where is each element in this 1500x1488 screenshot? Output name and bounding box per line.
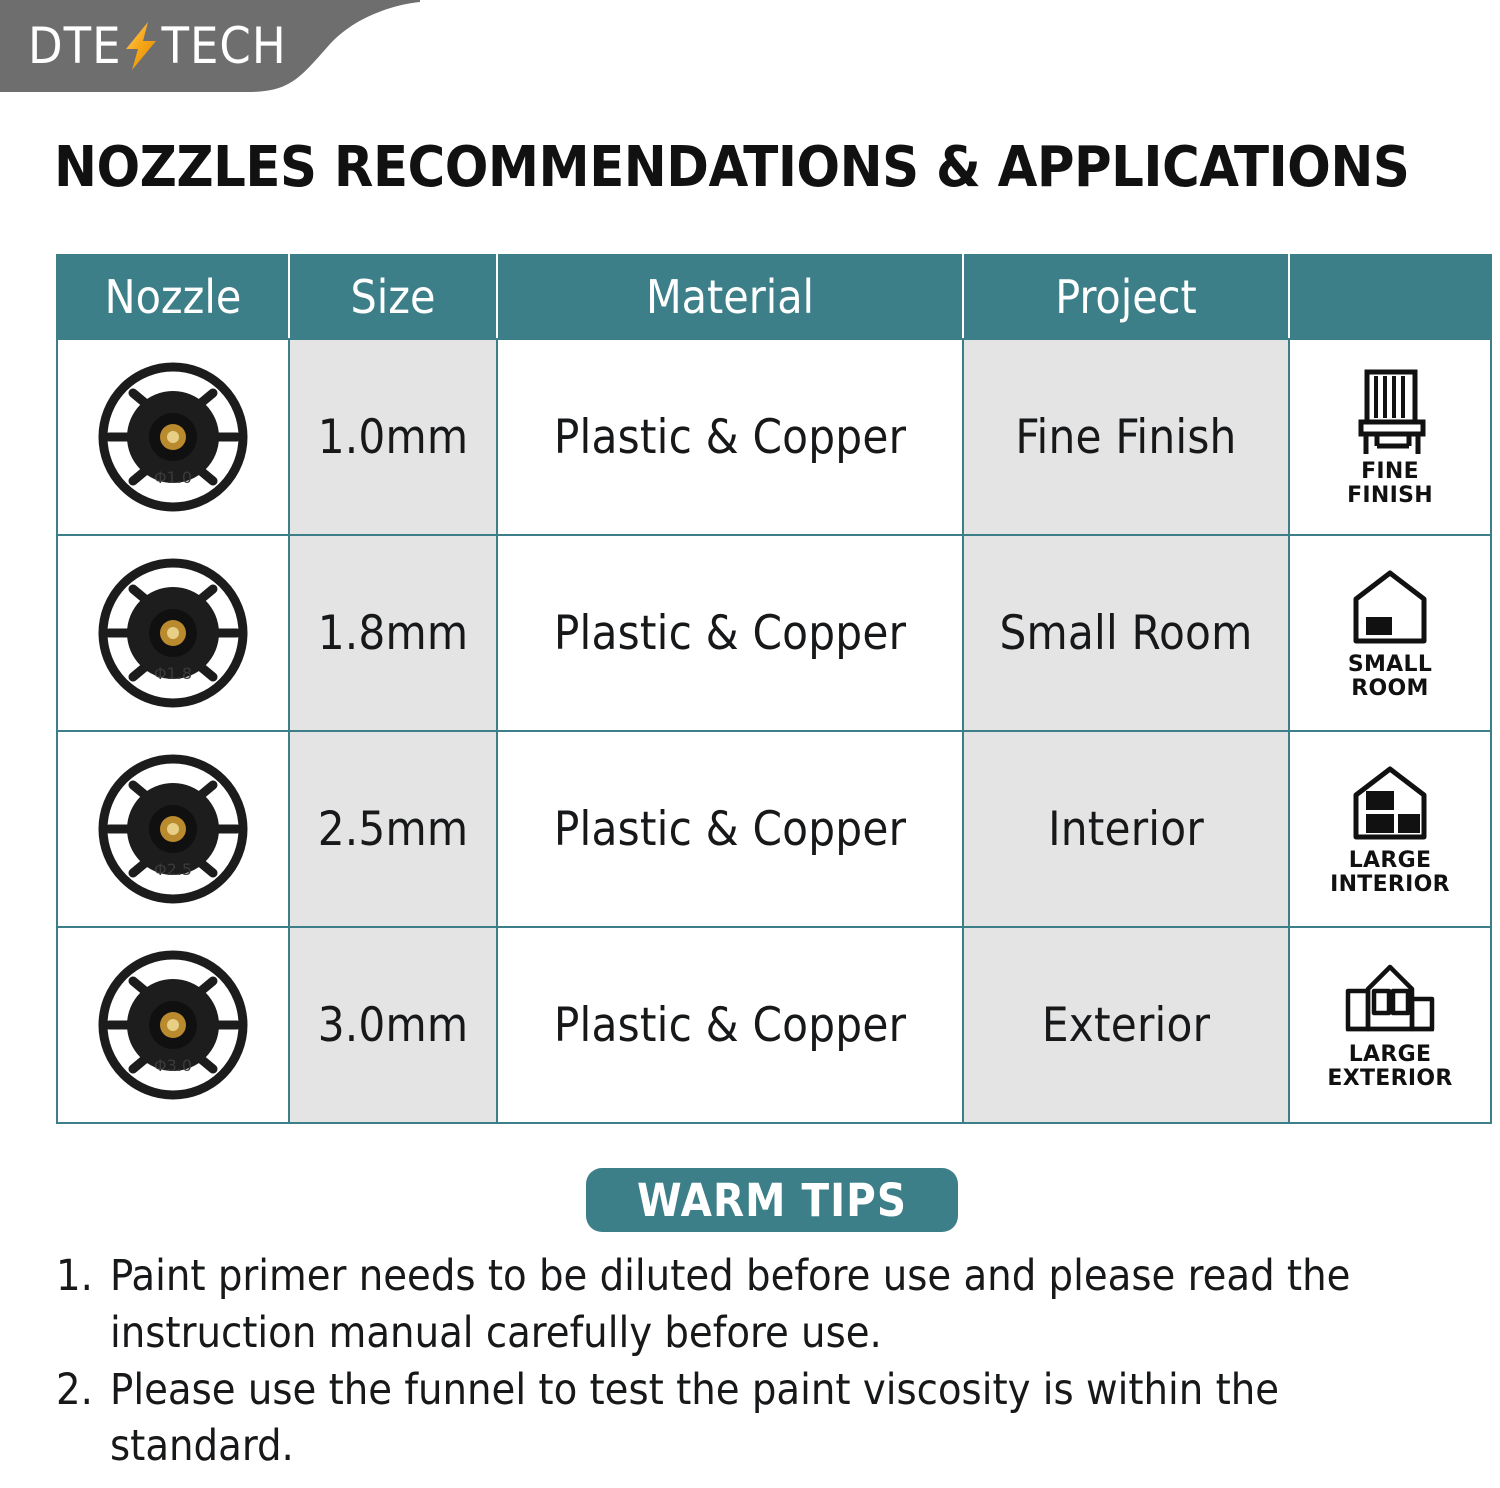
application-caption-line2: ROOM (1351, 676, 1428, 701)
column-header-application (1289, 255, 1491, 339)
warm-tips-badge: WARM TIPS (586, 1168, 958, 1232)
brand-name-right: TECH (162, 17, 287, 75)
size-value: 1.8mm (318, 606, 469, 661)
application-cell: LARGE INTERIOR (1289, 731, 1491, 927)
project-value: Interior (1048, 802, 1204, 857)
project-value: Exterior (1042, 998, 1210, 1053)
material-value: Plastic & Copper (554, 998, 906, 1053)
column-header-project: Project (963, 255, 1289, 339)
material-cell: Plastic & Copper (497, 339, 963, 535)
nozzle-image-cell: Φ1.8 (57, 535, 289, 731)
size-value: 1.0mm (318, 410, 469, 465)
size-cell: 1.8mm (289, 535, 497, 731)
brand-logo: DTE TECH (0, 0, 420, 92)
size-value: 2.5mm (318, 802, 469, 857)
column-header-size: Size (289, 255, 497, 339)
tip-number: 2. (56, 1362, 110, 1476)
warm-tips-list: 1. Paint primer needs to be diluted befo… (56, 1248, 1456, 1475)
spray-nozzle-icon: Φ1.0 (85, 351, 261, 523)
project-value: Fine Finish (1015, 410, 1236, 465)
list-item: 2. Please use the funnel to test the pai… (56, 1362, 1456, 1476)
application-caption-line2: FINISH (1347, 483, 1433, 508)
warm-tips-label: WARM TIPS (637, 1174, 907, 1227)
house-exterior-icon (1338, 959, 1442, 1041)
nozzle-image-cell: Φ2.5 (57, 731, 289, 927)
page-title: NOZZLES RECOMMENDATIONS & APPLICATIONS (54, 135, 1482, 200)
application-cell: FINE FINISH (1289, 339, 1491, 535)
table-row: Φ2.5 2.5mm Plastic & Copper Interior (57, 731, 1491, 927)
application-caption-line1: LARGE (1349, 1042, 1432, 1067)
nozzle-marking-label: Φ1.8 (154, 664, 192, 683)
material-cell: Plastic & Copper (497, 731, 963, 927)
tip-text: Paint primer needs to be diluted before … (110, 1248, 1456, 1362)
chair-icon (1347, 366, 1433, 458)
nozzle-marking-label: Φ1.0 (154, 468, 192, 487)
application-caption-line1: LARGE (1349, 848, 1432, 873)
spray-nozzle-icon: Φ3.0 (85, 939, 261, 1111)
project-value: Small Room (999, 606, 1252, 661)
spray-nozzle-icon: Φ1.8 (85, 547, 261, 719)
nozzle-marking-label: Φ2.5 (154, 860, 192, 879)
infographic-page: DTE TECH NOZZLES RECOMMENDATIONS & APPLI… (0, 0, 1500, 1488)
size-cell: 3.0mm (289, 927, 497, 1123)
table-row: Φ1.0 1.0mm Plastic & Copper Fine Finish (57, 339, 1491, 535)
application-caption-line1: FINE (1361, 459, 1419, 484)
table-header-row: Nozzle Size Material Project (57, 255, 1491, 339)
project-cell: Fine Finish (963, 339, 1289, 535)
application-caption-line2: EXTERIOR (1327, 1066, 1452, 1091)
application-cell: LARGE EXTERIOR (1289, 927, 1491, 1123)
application-caption-line2: INTERIOR (1330, 872, 1450, 897)
nozzle-image-cell: Φ3.0 (57, 927, 289, 1123)
material-value: Plastic & Copper (554, 606, 906, 661)
nozzle-image-cell: Φ1.0 (57, 339, 289, 535)
material-value: Plastic & Copper (554, 410, 906, 465)
column-header-nozzle: Nozzle (57, 255, 289, 339)
size-cell: 2.5mm (289, 731, 497, 927)
house-single-room-icon (1344, 565, 1436, 651)
nozzle-recommendation-table: Nozzle Size Material Project (56, 254, 1492, 1124)
size-value: 3.0mm (318, 998, 469, 1053)
material-cell: Plastic & Copper (497, 535, 963, 731)
project-cell: Interior (963, 731, 1289, 927)
table-row: Φ1.8 1.8mm Plastic & Copper Small Room S… (57, 535, 1491, 731)
project-cell: Exterior (963, 927, 1289, 1123)
spray-nozzle-icon: Φ2.5 (85, 743, 261, 915)
tip-number: 1. (56, 1248, 110, 1362)
house-multi-room-icon (1344, 761, 1436, 847)
material-value: Plastic & Copper (554, 802, 906, 857)
application-caption-line1: SMALL (1348, 652, 1432, 677)
lightning-bolt-icon (118, 18, 164, 74)
column-header-material: Material (497, 255, 963, 339)
material-cell: Plastic & Copper (497, 927, 963, 1123)
application-cell: SMALL ROOM (1289, 535, 1491, 731)
nozzle-marking-label: Φ3.0 (154, 1056, 192, 1075)
size-cell: 1.0mm (289, 339, 497, 535)
tip-text: Please use the funnel to test the paint … (110, 1362, 1456, 1476)
table-row: Φ3.0 3.0mm Plastic & Copper Exterior (57, 927, 1491, 1123)
project-cell: Small Room (963, 535, 1289, 731)
brand-name-left: DTE (28, 17, 122, 75)
list-item: 1. Paint primer needs to be diluted befo… (56, 1248, 1456, 1362)
